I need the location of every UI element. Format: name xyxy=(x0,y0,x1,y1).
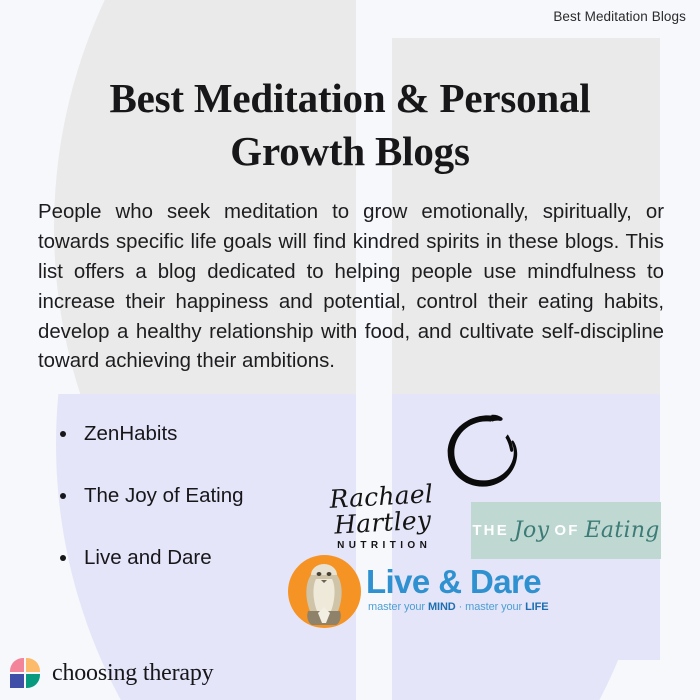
tagline-life: LIFE xyxy=(525,601,548,613)
bullet-dot xyxy=(60,493,66,499)
logo-quadrant-bottom-right xyxy=(26,674,40,688)
blog-name: The Joy of Eating xyxy=(84,484,244,507)
body-paragraph: People who seek meditation to grow emoti… xyxy=(38,198,664,377)
live-and-dare-tagline: master your MIND · master your LIFE xyxy=(368,601,549,613)
zenhabits-enso-icon xyxy=(441,411,523,489)
page-eyebrow: Best Meditation Blogs xyxy=(553,9,686,24)
blog-name: Live and Dare xyxy=(84,546,212,569)
choosing-therapy-logo-icon xyxy=(10,658,40,688)
joy-logo-the: THE xyxy=(472,522,509,539)
tagline-pre: master your xyxy=(368,601,428,613)
logo-quadrant-top-left xyxy=(10,658,24,672)
rachael-hartley-script: Rachael Hartley xyxy=(295,479,470,541)
joy-logo-of: OF xyxy=(554,522,579,539)
bullet-dot xyxy=(60,555,66,561)
list-item: ZenHabits xyxy=(56,424,356,486)
live-and-dare-logo: Live & Dare master your MIND · master yo… xyxy=(288,551,540,636)
lion-badge-icon xyxy=(288,555,361,628)
tagline-mid: · master your xyxy=(456,601,525,613)
brand-name: choosing therapy xyxy=(52,660,213,687)
page-title: Best Meditation & Personal Growth Blogs xyxy=(40,72,660,176)
live-and-dare-wordmark: Live & Dare xyxy=(366,565,541,598)
logo-quadrant-bottom-left xyxy=(10,674,24,688)
blog-name: ZenHabits xyxy=(84,422,177,445)
logo-quadrant-top-right xyxy=(26,658,40,672)
rachael-hartley-subtitle: NUTRITION xyxy=(296,540,468,551)
rachael-hartley-logo: Rachael Hartley NUTRITION xyxy=(296,484,468,536)
joy-logo-eating: Eating xyxy=(585,518,660,543)
bullet-dot xyxy=(60,431,66,437)
joy-logo-joy: Joy xyxy=(514,518,549,543)
brand-footer: choosing therapy xyxy=(10,658,213,688)
infographic-canvas: Best Meditation Blogs Best Meditation & … xyxy=(0,0,700,700)
tagline-mind: MIND xyxy=(428,601,456,613)
